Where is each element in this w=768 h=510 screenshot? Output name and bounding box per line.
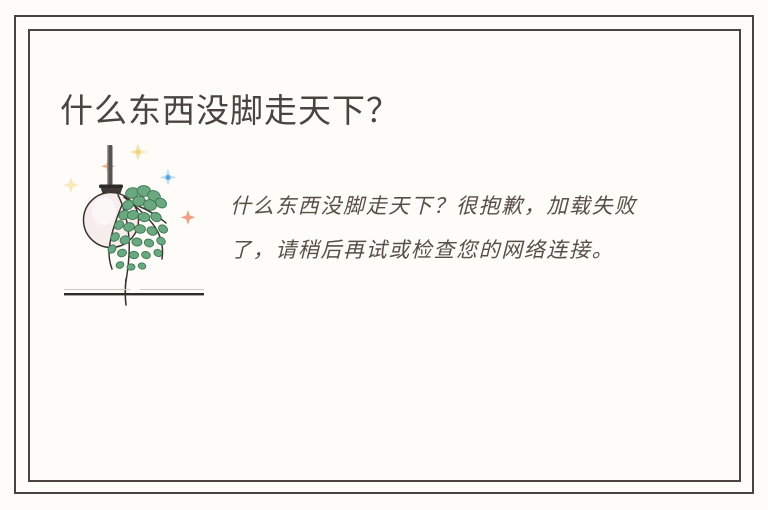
sparkle-yellow-top	[129, 143, 148, 161]
sparkle-blue-right	[160, 169, 177, 186]
hanger-rod	[108, 145, 113, 189]
page-root: 什么东西没脚走天下？	[0, 0, 768, 510]
page-content: 什么东西没脚走天下？	[30, 31, 739, 480]
page-title: 什么东西没脚走天下？	[60, 91, 400, 131]
ground-line	[64, 289, 204, 295]
error-message-text: 什么东西没脚走天下？很抱歉，加载失败了，请稍后再试或检查您的网络连接。	[230, 184, 660, 272]
sparkle-orange-right	[181, 210, 196, 225]
hanging-terrarium-plant-illustration	[62, 139, 222, 314]
sparkle-yellow-left	[63, 177, 79, 193]
trailing-stem	[125, 279, 126, 305]
